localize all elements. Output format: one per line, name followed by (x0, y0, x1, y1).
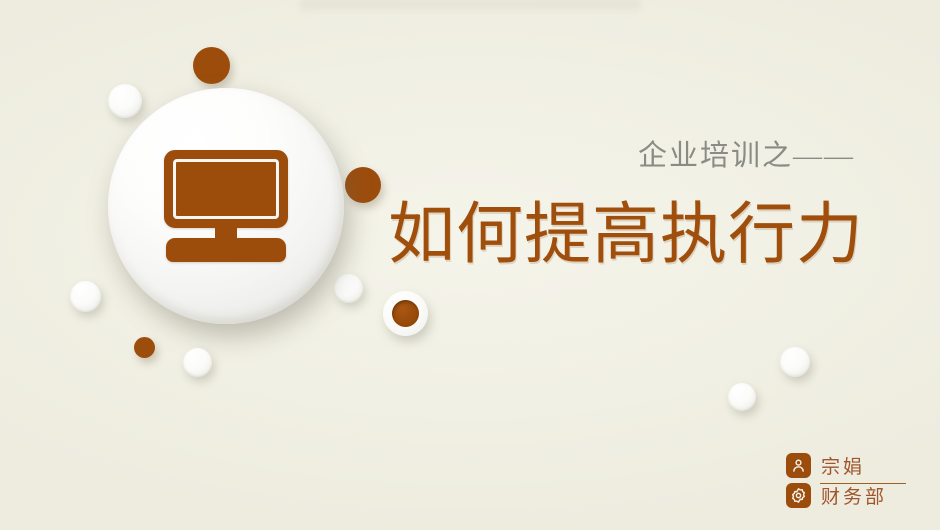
author-name-row: 宗娟 (786, 450, 910, 480)
hero-disc (108, 88, 344, 324)
author-name: 宗娟 (821, 452, 865, 479)
white-dot-upper-left (108, 84, 142, 118)
author-department: 财务部 (821, 482, 887, 509)
white-dot-left (70, 281, 101, 312)
brown-dot-top (193, 47, 230, 84)
page-title: 如何提高执行力 (388, 180, 858, 277)
slide-subtitle: 企业培训之—— (390, 132, 855, 174)
white-dot-lower-right (334, 274, 363, 303)
presentation-slide: 企业培训之—— 如何提高执行力 宗娟 财务部 (0, 0, 940, 530)
brown-ring-dot (383, 291, 428, 336)
brown-dot-bottom (134, 337, 155, 358)
top-shadow-band (300, 0, 640, 14)
white-dot-bottom (183, 348, 212, 377)
gear-icon (786, 483, 811, 508)
author-divider (820, 483, 906, 484)
white-dot-far-right-upper (780, 347, 810, 377)
author-department-row: 财务部 (786, 480, 910, 510)
brown-dot-right (345, 167, 381, 203)
white-dot-far-right-lower (728, 383, 756, 411)
desktop-monitor-icon (164, 150, 288, 262)
person-icon (786, 453, 811, 478)
author-block: 宗娟 财务部 (786, 450, 910, 510)
monitor-screen (173, 159, 279, 219)
monitor-base (166, 238, 286, 262)
monitor-frame (164, 150, 288, 228)
